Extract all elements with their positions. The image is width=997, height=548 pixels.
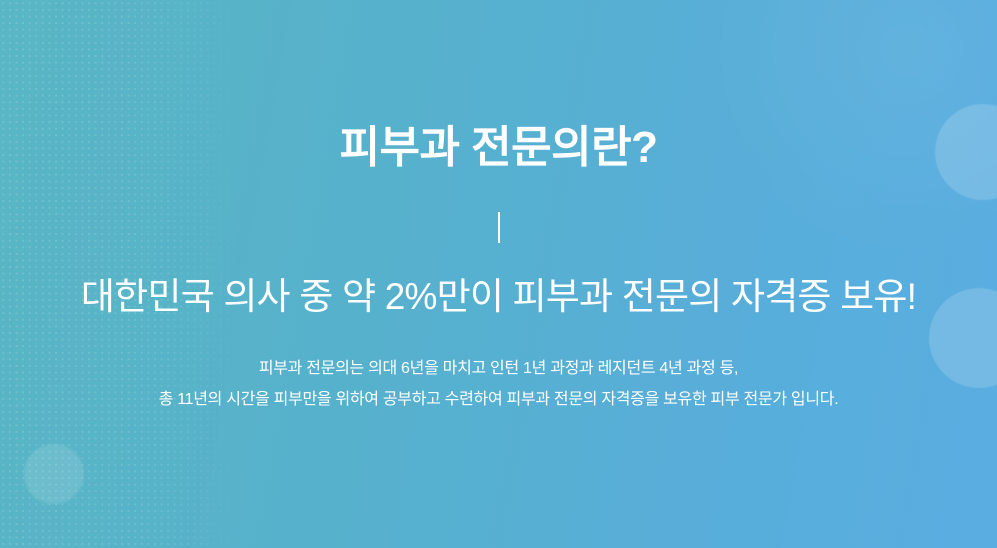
banner-content: 피부과 전문의란? 대한민국 의사 중 약 2%만이 피부과 전문의 자격증 보… xyxy=(0,0,997,548)
promo-banner: 피부과 전문의란? 대한민국 의사 중 약 2%만이 피부과 전문의 자격증 보… xyxy=(0,0,997,548)
description-line-2: 총 11년의 시간을 피부만을 위하여 공부하고 수련하여 피부과 전문의 자격… xyxy=(159,384,839,415)
title-divider xyxy=(498,212,500,243)
description-line-1: 피부과 전문의는 의대 6년을 마치고 인턴 1년 과정과 레지던트 4년 과정… xyxy=(159,353,839,384)
banner-subheading: 대한민국 의사 중 약 2%만이 피부과 전문의 자격증 보유! xyxy=(81,275,916,319)
banner-description: 피부과 전문의는 의대 6년을 마치고 인턴 1년 과정과 레지던트 4년 과정… xyxy=(159,353,839,415)
page-title: 피부과 전문의란? xyxy=(340,124,658,172)
